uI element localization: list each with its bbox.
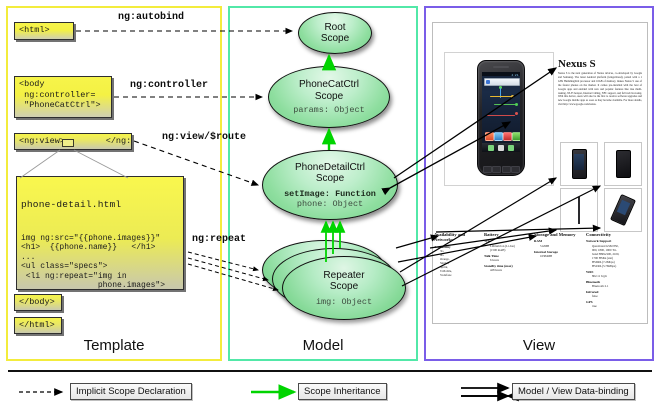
spec-heading-availability: Availability and Networks [434,232,482,243]
spec-column-battery: Battery Type Lithium Ion (Li-Ion) (1500 … [484,232,532,272]
code-box-body-open: <body ng:controller= "PhoneCatCtrl"> [14,76,112,118]
scope-root-title-2: Scope [321,33,349,45]
spec-value-wifi: 802.11 b/g/n [586,274,646,278]
dock-icon-launcher [498,145,504,151]
spec-value-ram: 512MB [534,244,582,248]
column-title-view: View [424,337,654,418]
softkey-menu-icon [492,166,501,173]
spec-column-connectivity: Connectivity Network Support Quad-band G… [586,232,646,308]
product-description: Nexus S is the next generation of Nexus … [558,72,642,107]
spec-value-standby: 428 hours [484,268,532,272]
scope-phonecatctrl-title-1: PhoneCatCtrl [299,79,359,91]
wallpaper-dot-2 [511,95,514,98]
scope-root: Root Scope [298,12,372,54]
diagram-canvas: <html> <body ng:controller= "PhoneCatCtr… [0,0,660,420]
spec-value-gps: true [586,304,646,308]
spec-column-storage: Storage and Memory RAM 512MB Internal St… [534,232,582,258]
scope-phonedetailctrl-title-2: Scope [316,173,344,185]
phone-device-image: 4:21 [477,60,525,176]
phone-screen: 4:21 [482,72,520,152]
wallpaper-dot-3 [515,103,518,106]
mini-phone-edge-icon [578,197,580,224]
app-icon-maps [494,132,503,141]
scope-phonecatctrl-prop-params: params: Object [293,105,364,115]
legend-label-implicit-scope: Implicit Scope Declaration [70,383,192,400]
scope-phonedetailctrl-prop-phone: phone: Object [297,199,363,209]
scope-repeater-title-1: Repeater [323,270,364,282]
scope-repeater-prop-img: img: Object [316,297,372,307]
scope-repeater: Repeater Scope img: Object [282,256,406,320]
edge-label-controller: ng:controller [130,80,208,91]
thumbnail-phone-tilt[interactable] [604,188,642,232]
code-box-phone-detail: phone-detail.html img ng:src="{{phone.im… [16,176,184,290]
legend-label-scope-inheritance: Scope Inheritance [298,383,387,400]
code-box-html-open: <html> [14,22,74,40]
spec-value-bluetooth: Bluetooth 2.1 [586,284,646,288]
wallpaper-dot-4 [515,112,518,115]
app-icon-gmail [512,132,520,141]
softkey-back-icon [483,166,492,173]
softkey-search-icon [502,166,511,173]
legend-label-data-binding: Model / View Data-binding [512,383,635,400]
scope-phonedetailctrl-title-1: PhoneDetailCtrl [295,162,365,174]
phone-status-time: 4:21 [512,73,519,77]
spec-value-availability-3: Orange, Singtel, Sprint, T-Mobile, Vodaf… [434,257,482,277]
spec-column-availability: Availability and Networks Availability 3… [434,232,482,277]
wallpaper-line-3 [487,115,515,116]
thumbnail-phone-edge[interactable] [560,188,598,232]
wallpaper-line-2 [494,104,516,105]
spec-value-network-6: HSUPA (5.76Mbps) [586,264,646,268]
thumbnail-phone-back[interactable] [604,142,642,186]
phone-soft-keys [482,166,520,172]
dock-icon-browser [508,145,514,151]
app-icon-market [485,132,494,141]
product-title: Nexus S [558,58,596,70]
mini-phone-front-icon [572,149,587,179]
scope-phonedetailctrl-prop-setimage: setImage: Function [284,189,376,199]
spec-heading-storage: Storage and Memory [534,232,582,237]
column-title-model: Model [228,337,418,418]
app-icon-youtube [503,132,512,141]
softkey-home-icon [511,166,520,173]
spec-heading-battery: Battery [484,232,532,237]
mini-phone-back-icon [616,150,631,178]
phone-detail-code: img ng:src="{{phone.images}}" <h1> {{pho… [21,234,179,291]
code-box-html-close: </html> [14,317,62,334]
ng-view-placeholder-icon [62,139,74,147]
spec-heading-connectivity: Connectivity [586,232,646,237]
dock-icon-phone [488,145,494,151]
phone-dock [482,143,520,152]
scope-root-title-1: Root [324,22,345,34]
spec-value-infrared: false [586,294,646,298]
column-title-template: Template [6,337,222,418]
phone-detail-filename: phone-detail.html [21,200,179,213]
edge-label-repeat: ng:repeat [192,234,246,245]
spec-value-internal-storage: 16384MB [534,254,582,258]
scope-phonecatctrl-title-2: Scope [315,91,343,103]
legend-divider [8,370,652,372]
scope-phonecatctrl: PhoneCatCtrl Scope params: Object [268,66,390,128]
spec-value-battery-type-2: (1500 mAH) [484,248,532,252]
phone-speaker-icon [493,66,509,68]
thumbnail-phone-front[interactable] [560,142,598,186]
phone-search-widget [484,78,520,86]
scope-repeater-title-2: Scope [330,281,358,293]
code-box-body-close: </body> [14,294,62,311]
mini-phone-tilt-icon [610,194,636,226]
scope-phonedetailctrl: PhoneDetailCtrl Scope setImage: Function… [262,150,398,220]
google-g-icon [486,80,490,84]
edge-label-autobind: ng:autobind [118,12,184,23]
spec-value-talk-time: 6 hours [484,258,532,262]
edge-label-route: ng:view/$route [162,132,246,143]
phone-status-bar: 4:21 [482,72,520,76]
